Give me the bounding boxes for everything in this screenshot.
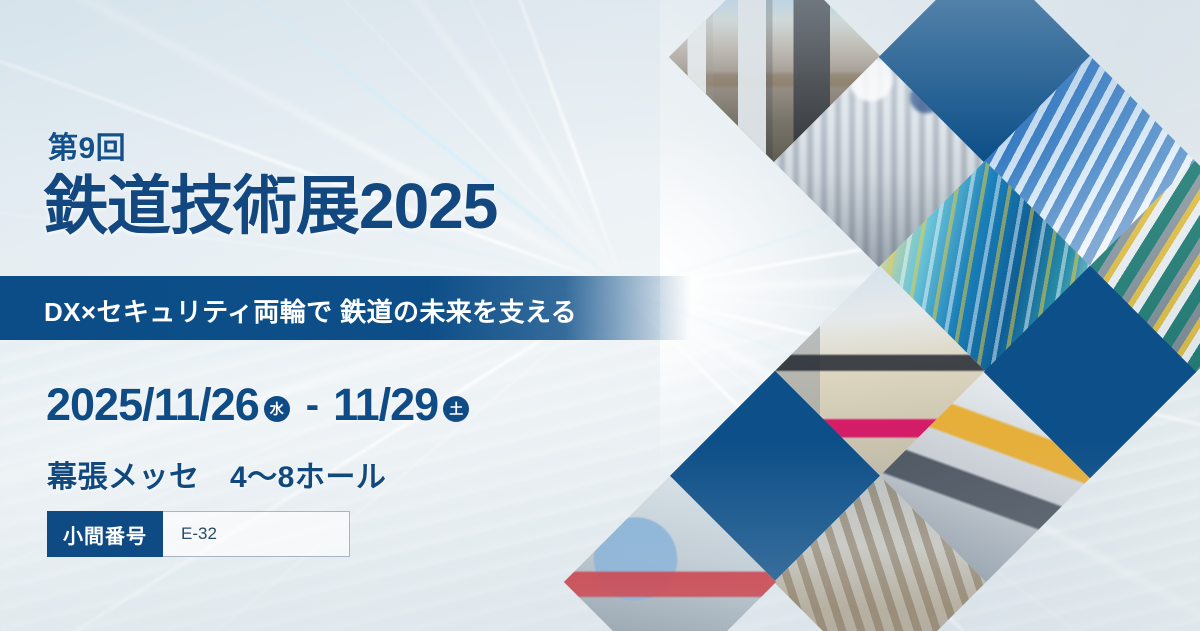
day-of-week-badge-start: 水 <box>264 396 290 422</box>
date-start: 2025/11/26 <box>46 382 259 427</box>
booth-number-box: 小間番号 E-32 <box>47 511 350 557</box>
event-title: 鉄道技術展2025 <box>44 174 497 238</box>
booth-number-label: 小間番号 <box>47 511 163 557</box>
edition-label: 第9回 <box>48 123 126 167</box>
event-banner: 第9回 鉄道技術展2025 DX×セキュリティ両輪で 鉄道の未来を支える 202… <box>0 0 1200 631</box>
event-tagline: DX×セキュリティ両輪で 鉄道の未来を支える <box>44 292 577 329</box>
banner-text-column: 第9回 鉄道技術展2025 DX×セキュリティ両輪で 鉄道の未来を支える 202… <box>0 0 660 631</box>
event-dates: 2025/11/26 水 - 11/29 土 <box>46 382 471 427</box>
date-end: 11/29 <box>333 382 438 427</box>
venue-text: 幕張メッセ 4〜8ホール <box>47 452 386 496</box>
date-range-separator: - <box>306 385 319 425</box>
booth-number-value: E-32 <box>163 511 350 557</box>
day-of-week-badge-end: 土 <box>443 396 469 422</box>
